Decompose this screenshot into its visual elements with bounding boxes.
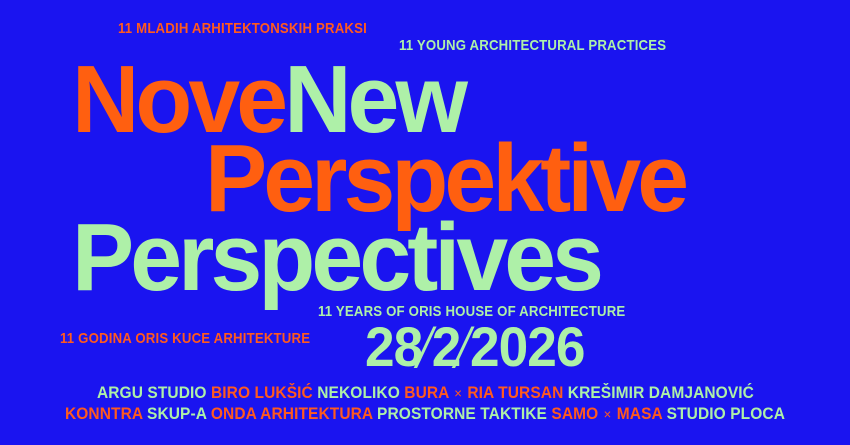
credit-separator-icon: × (453, 385, 463, 401)
date-separator-1: ⁄ (423, 318, 431, 378)
headline-perspectives: Perspectives (72, 212, 600, 303)
credit-separator-icon: × (603, 406, 613, 422)
credit-studio-name: BIRO LUKŠIĆ (211, 384, 313, 402)
croatian-subtitle: 11 MLADIH ARHITEKTONSKIH PRAKSI (118, 20, 367, 37)
event-date: 28⁄2⁄2026 (365, 316, 585, 376)
credit-studio-name: ONDA ARHITEKTURA (211, 405, 373, 423)
credits-row-2: KONNTRA SKUP-A ONDA ARHITEKTURA PROSTORN… (0, 405, 850, 424)
credits-row-1-inner: ARGU STUDIO BIRO LUKŠIĆ NEKOLIKO BURA × … (96, 384, 753, 403)
date-separator-2: ⁄ (461, 318, 469, 378)
date-month: 2 (432, 315, 461, 378)
credit-studio-name: STUDIO PLOCA (667, 405, 785, 423)
credit-studio-name: ARGU STUDIO (96, 384, 206, 402)
credit-studio-name: MASA (617, 405, 662, 423)
credit-studio-name: KREŠIMIR DAMJANOVIĆ (567, 384, 753, 402)
credit-studio-name: SKUP-A (147, 405, 206, 423)
credit-studio-name: SAMO (551, 405, 598, 423)
poster-canvas: 11 MLADIH ARHITEKTONSKIH PRAKSI 11 YOUNG… (0, 0, 850, 445)
date-year: 2026 (470, 315, 585, 378)
credit-studio-name: BURA (404, 384, 449, 402)
credit-studio-name: KONNTRA (65, 405, 143, 423)
credit-studio-name: PROSTORNE TAKTIKE (377, 405, 547, 423)
credit-studio-name: NEKOLIKO (317, 384, 400, 402)
croatian-anniversary-caption: 11 GODINA ORIS KUCE ARHITEKTURE (60, 330, 310, 347)
date-day: 28 (365, 315, 422, 378)
credit-studio-name: RIA TURSAN (467, 384, 563, 402)
credits-row-1: ARGU STUDIO BIRO LUKŠIĆ NEKOLIKO BURA × … (0, 384, 850, 403)
credits-row-2-inner: KONNTRA SKUP-A ONDA ARHITEKTURA PROSTORN… (65, 405, 785, 424)
